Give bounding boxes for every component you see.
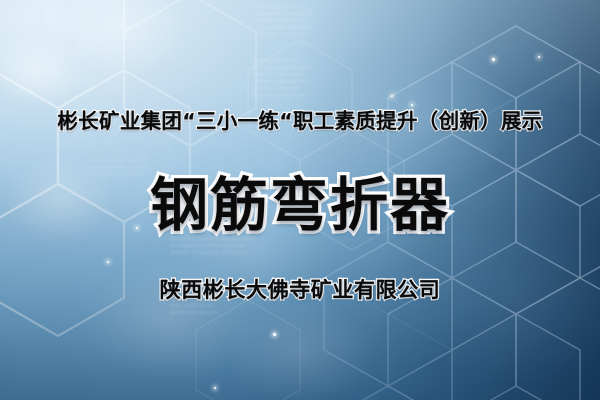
slide-canvas: thermal process of advanced materials fo… xyxy=(0,0,600,400)
event-headline: 彬长矿业集团“三小一练“职工素质提升（创新）展示 xyxy=(57,104,542,134)
company-name: 陕西彬长大佛寺矿业有限公司 xyxy=(160,274,441,304)
page-title: 钢筋弯折器 xyxy=(150,158,450,242)
